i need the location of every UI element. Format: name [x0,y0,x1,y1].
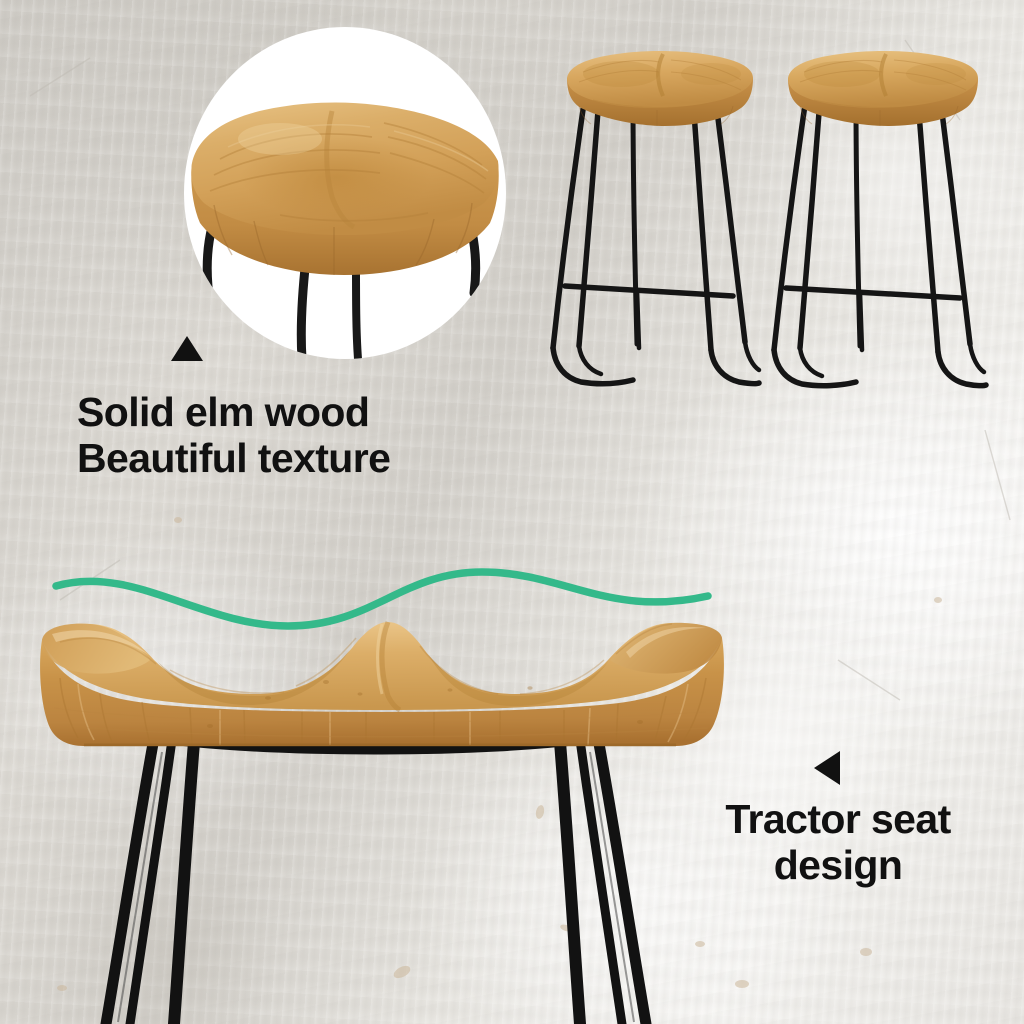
circle-inset-zoom [184,27,506,359]
stool-upper-left [543,48,759,393]
callout-tractor-seat-design-label: Tractor seat design [700,797,976,889]
inset-seat-closeup [184,27,506,359]
triangle-up-pointer-icon [171,336,203,361]
product-feature-image: Solid elm wood Beautiful texture Tractor… [0,0,1024,1024]
callout-solid-elm-wood-label: Solid elm wood Beautiful texture [77,390,390,482]
triangle-left-pointer-icon [814,751,840,785]
stool-bottom-large [30,612,730,1024]
stool-upper-right [762,48,986,393]
